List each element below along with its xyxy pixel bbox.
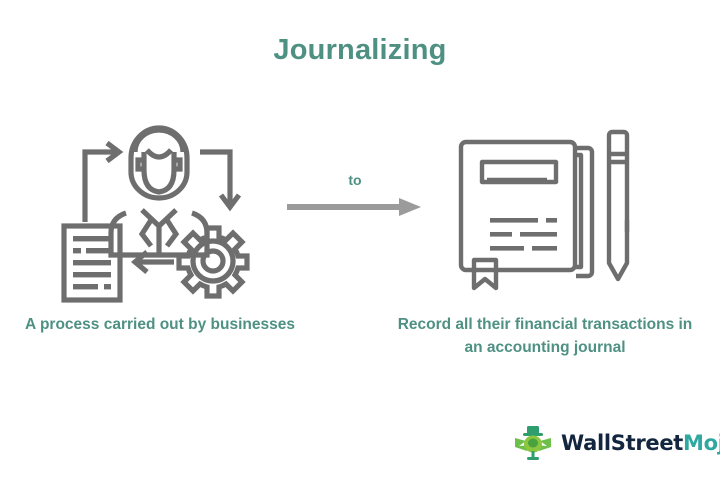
logo-text-accent: Mojo (683, 431, 720, 455)
right-arrow-icon (285, 194, 425, 220)
bookmark-ribbon-icon (474, 260, 496, 288)
logo-text-primary: WallStreet (561, 431, 683, 455)
business-process-cycle-icon (52, 110, 267, 305)
infographic-canvas: Journalizing (0, 0, 720, 482)
notebook-back-page (576, 148, 592, 276)
wallstreetmojo-logo[interactable]: WallStreetMojo (513, 423, 688, 463)
connector-label: to (285, 172, 425, 188)
pencil-icon (609, 132, 627, 279)
accounting-journal-icon (452, 110, 647, 300)
gear-icon (179, 228, 247, 296)
wallstreetmojo-logo-icon (513, 424, 553, 462)
page-title: Journalizing (0, 34, 720, 67)
right-illustration (452, 110, 647, 300)
connector-arrow-group: to (285, 172, 425, 220)
left-caption: A process carried out by businesses (20, 314, 300, 337)
document-text-lines (73, 236, 111, 289)
right-caption: Record all their financial transactions … (395, 314, 695, 360)
logo-text: WallStreetMojo (561, 431, 720, 455)
notebook-text-lines (490, 218, 557, 251)
left-illustration (52, 110, 267, 305)
